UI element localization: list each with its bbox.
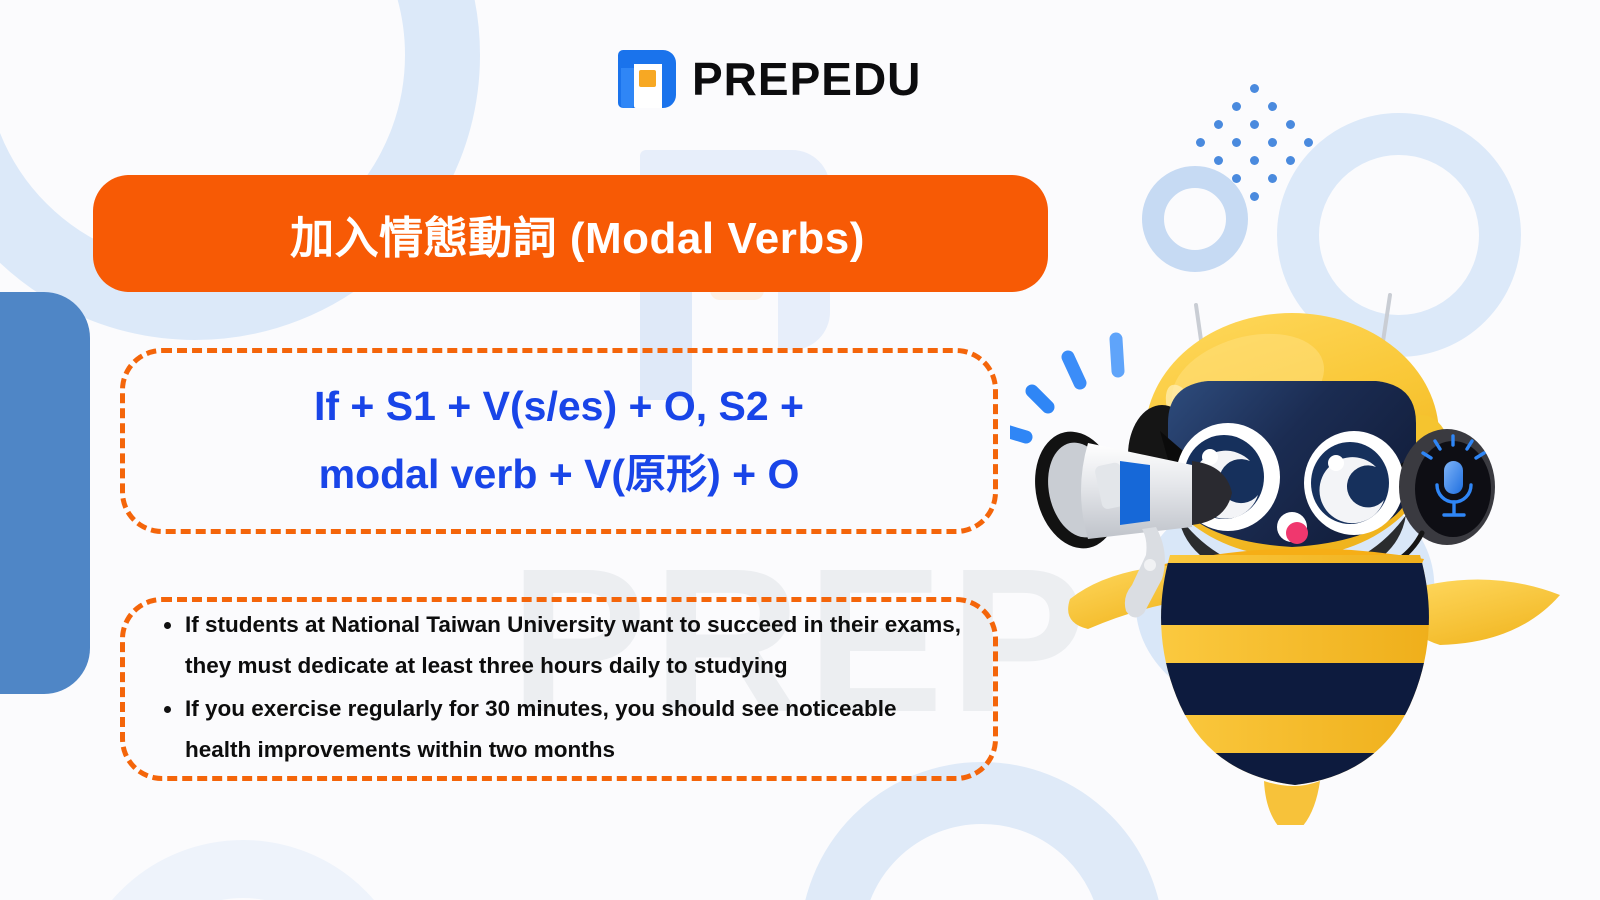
list-item: If students at National Taiwan Universit… xyxy=(185,605,967,687)
list-item: If you exercise regularly for 30 minutes… xyxy=(185,689,967,771)
decorative-ring-bottom-left xyxy=(70,840,416,900)
examples-box: If students at National Taiwan Universit… xyxy=(120,597,998,781)
decorative-ring-top-right-small xyxy=(1142,166,1248,272)
prepedu-logo: PREPEDU xyxy=(618,50,921,108)
sound-lines xyxy=(1010,339,1118,437)
formula-box: If + S1 + V(s/es) + O, S2 + modal verb +… xyxy=(120,348,998,534)
logo-wordmark: PREPEDU xyxy=(692,52,921,106)
decorative-blue-slab xyxy=(0,292,90,694)
prep-bee-mascot xyxy=(1010,265,1580,825)
infographic-canvas: PREP PREPEDU 加入情態動詞 (Modal Verbs) If + S… xyxy=(0,0,1600,900)
formula-line-1: If + S1 + V(s/es) + O, S2 + xyxy=(314,373,804,441)
page-title: 加入情態動詞 (Modal Verbs) xyxy=(93,202,1048,266)
title-banner: 加入情態動詞 (Modal Verbs) xyxy=(93,175,1048,292)
prepedu-p-mark-icon xyxy=(618,50,676,108)
examples-list: If students at National Taiwan Universit… xyxy=(155,605,967,773)
mascot-body xyxy=(1130,555,1470,825)
formula-line-2: modal verb + V(原形) + O xyxy=(319,441,800,509)
